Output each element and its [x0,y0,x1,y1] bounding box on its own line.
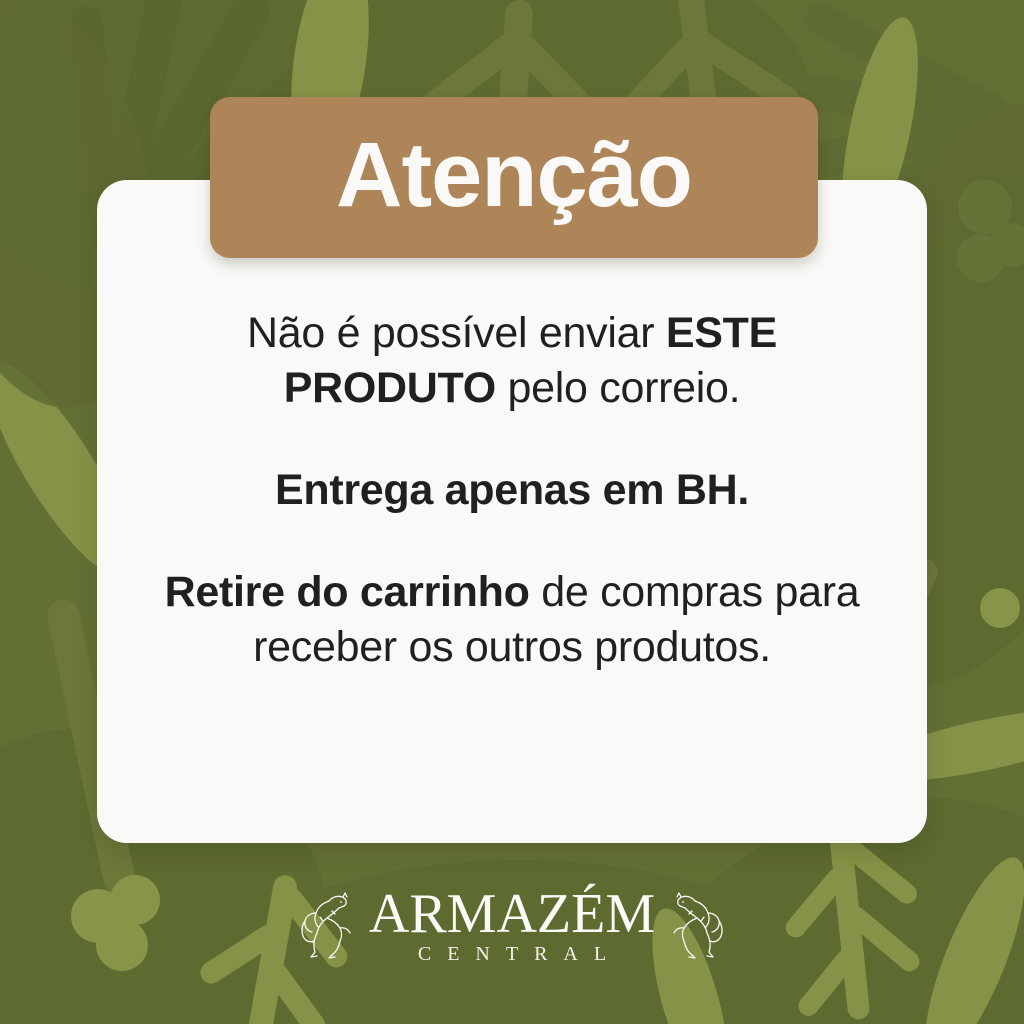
notice-text-bold-3: Retire do carrinho [165,568,530,616]
poster-canvas: Não é possível enviar ESTE PRODUTO pelo … [0,0,1024,1024]
brand-name: ARMAZÉM [369,888,655,942]
rearing-horse-icon [665,891,725,961]
brand-tagline: CENTRAL [402,944,622,964]
notice-paragraph-3: Retire do carrinho de compras para receb… [155,565,869,675]
rearing-horse-icon [299,891,359,961]
brand-logo: ARMAZÉM CENTRAL [0,884,1024,968]
brand-wordmark: ARMAZÉM CENTRAL [369,888,655,965]
notice-card: Não é possível enviar ESTE PRODUTO pelo … [97,180,927,843]
attention-banner: Atenção [210,97,818,258]
notice-text-bold-2: Entrega apenas em BH. [275,466,749,514]
notice-paragraph-2: Entrega apenas em BH. [155,463,869,518]
notice-text-plain-1b: pelo correio. [496,364,740,412]
notice-text-plain-1: Não é possível enviar [247,309,666,357]
notice-paragraph-1: Não é possível enviar ESTE PRODUTO pelo … [155,306,869,416]
attention-banner-title: Atenção [336,129,692,221]
